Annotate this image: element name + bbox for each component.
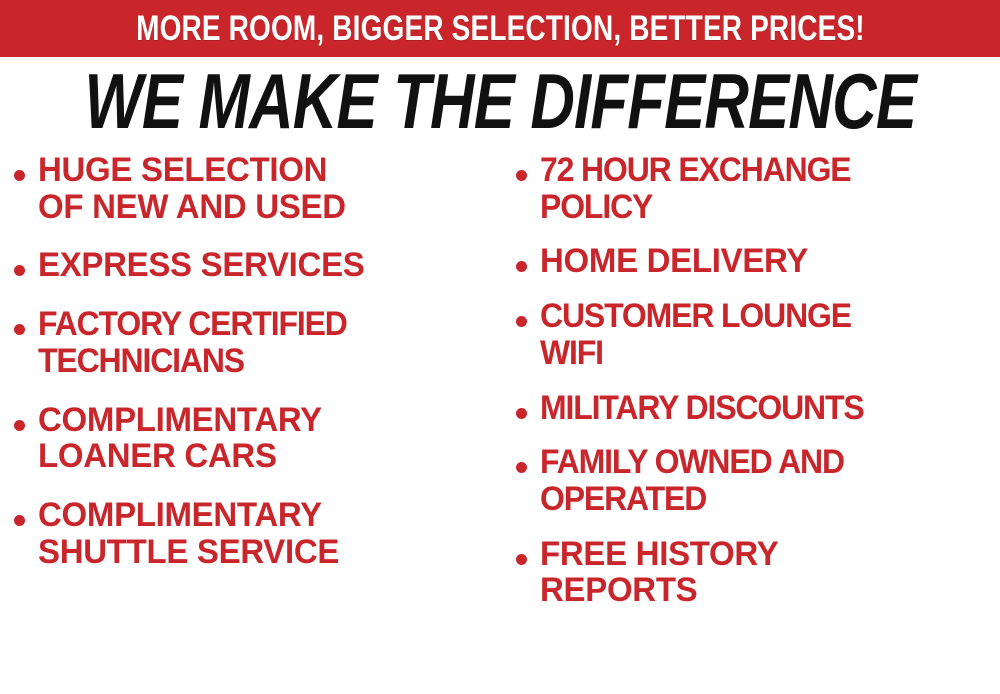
page-title: WE MAKE THE DIFFERENCE [84, 62, 916, 140]
list-item-label: CUSTOMER LOUNGE WIFI [540, 298, 851, 371]
list-item-label: EXPRESS SERVICES [38, 247, 365, 284]
list-item-label: MILITARY DISCOUNTS [540, 390, 864, 427]
headline-container: WE MAKE THE DIFFERENCE [0, 62, 1000, 140]
list-item: FAMILY OWNED AND OPERATED [516, 444, 1000, 517]
benefits-column-right: 72 HOUR EXCHANGE POLICY HOME DELIVERY CU… [516, 152, 1000, 694]
banner-headline-text: MORE ROOM, BIGGER SELECTION, BETTER PRIC… [136, 11, 865, 46]
list-item: COMPLIMENTARY SHUTTLE SERVICE [14, 497, 500, 570]
bullet-dot-icon [14, 324, 25, 335]
list-item-label: FACTORY CERTIFIED TECHNICIANS [38, 306, 347, 379]
list-item: EXPRESS SERVICES [14, 247, 500, 284]
list-item: MILITARY DISCOUNTS [516, 390, 1000, 427]
bullet-dot-icon [14, 515, 25, 526]
list-item: 72 HOUR EXCHANGE POLICY [516, 152, 1000, 225]
benefits-columns: HUGE SELECTION OF NEW AND USED EXPRESS S… [0, 152, 1000, 694]
list-item-label: HUGE SELECTION OF NEW AND USED [38, 152, 346, 225]
list-item-label: COMPLIMENTARY SHUTTLE SERVICE [38, 497, 339, 570]
list-item-label: COMPLIMENTARY LOANER CARS [38, 402, 322, 475]
bullet-dot-icon [14, 420, 25, 431]
list-item: HUGE SELECTION OF NEW AND USED [14, 152, 500, 225]
list-item: CUSTOMER LOUNGE WIFI [516, 298, 1000, 371]
benefits-column-left: HUGE SELECTION OF NEW AND USED EXPRESS S… [14, 152, 500, 694]
list-item: FREE HISTORY REPORTS [516, 536, 1000, 609]
bullet-dot-icon [14, 265, 25, 276]
bullet-dot-icon [516, 261, 527, 272]
list-item-label: 72 HOUR EXCHANGE POLICY [540, 152, 851, 225]
list-item: FACTORY CERTIFIED TECHNICIANS [14, 306, 500, 379]
bullet-dot-icon [516, 408, 527, 419]
bullet-dot-icon [516, 554, 527, 565]
list-item-label: FREE HISTORY REPORTS [540, 536, 778, 609]
bullet-dot-icon [516, 316, 527, 327]
bullet-dot-icon [516, 462, 527, 473]
promo-poster: MORE ROOM, BIGGER SELECTION, BETTER PRIC… [0, 0, 1000, 694]
list-item: HOME DELIVERY [516, 243, 1000, 280]
bullet-dot-icon [14, 170, 25, 181]
list-item: COMPLIMENTARY LOANER CARS [14, 402, 500, 475]
list-item-label: HOME DELIVERY [540, 243, 808, 280]
bullet-dot-icon [516, 170, 527, 181]
top-banner: MORE ROOM, BIGGER SELECTION, BETTER PRIC… [0, 0, 1000, 57]
list-item-label: FAMILY OWNED AND OPERATED [540, 444, 844, 517]
